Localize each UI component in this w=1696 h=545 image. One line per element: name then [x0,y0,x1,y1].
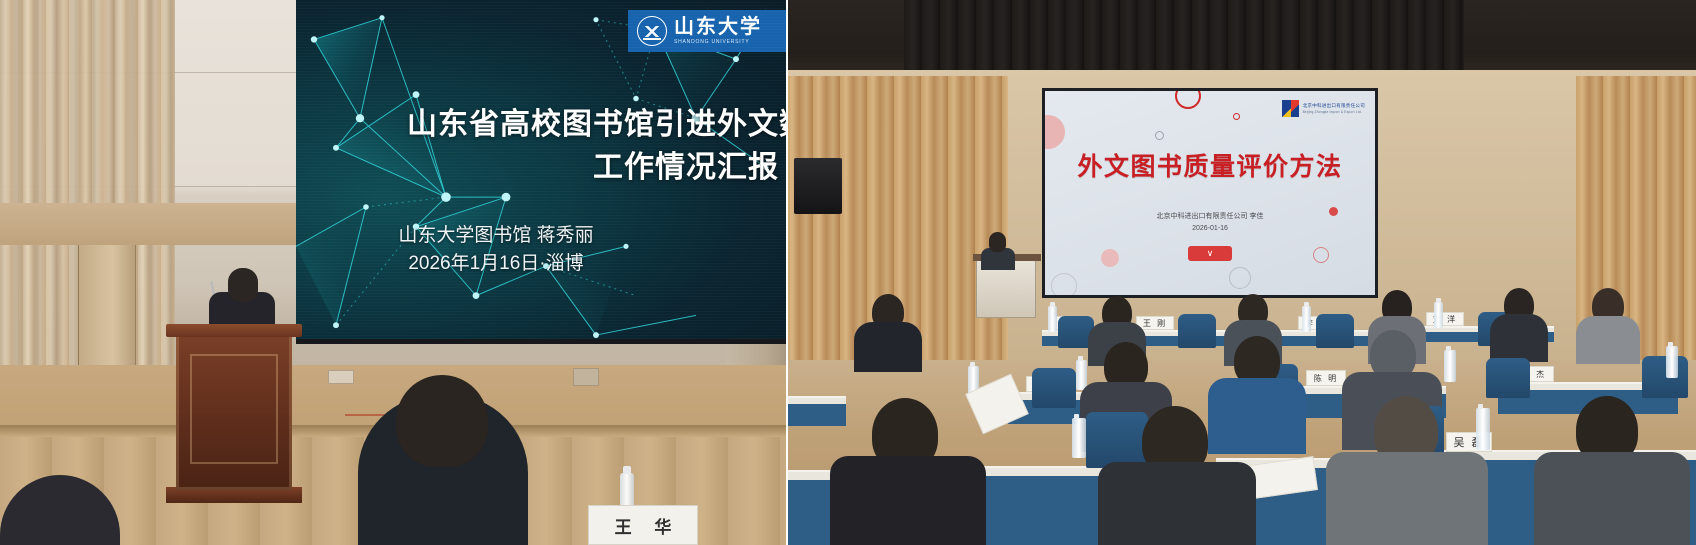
chair [1032,368,1076,408]
audience-body-foreground [1534,452,1690,545]
slide-title-line2: 工作情况汇报 [336,147,786,190]
decoration-ring [1051,273,1077,298]
decoration-circle [1101,249,1119,267]
shandong-university-seal-icon [637,16,667,46]
water-bottle [1476,408,1490,450]
wall-speaker-icon [794,158,842,214]
presentation-date: 2026年1月16日·淄博 [296,250,696,278]
presenter-head [228,268,258,302]
panel-divider [786,0,788,545]
company-logo-mark-icon [1282,100,1299,117]
presentation-date: 2026-01-16 [1045,223,1375,235]
audience-body-foreground [1326,452,1488,545]
audience-body-foreground [1098,462,1256,545]
slide-subtitle-left: 山东大学图书馆 蒋秀丽 2026年1月16日·淄博 [296,222,696,277]
podium-left [176,332,292,490]
chair [1086,412,1148,468]
nameplate: 陈 明 [1306,370,1346,386]
company-name-en: Beijing Zhongke Import & Export Ltd. [1303,110,1365,114]
audience-body [1490,314,1548,362]
presenter-name: 山东大学图书馆 蒋秀丽 [296,222,696,250]
chair [1642,356,1688,398]
water-bottle [1302,306,1311,332]
audience-body [1208,378,1306,454]
wall-outlet-plate [573,368,599,386]
right-photo-panel: 北京中科进出口有限责任公司 Beijing Zhongke Import & E… [786,0,1696,545]
nameplate: 王 华 [588,505,698,545]
audience-body-foreground [830,456,986,545]
led-presentation-screen-left: 山东大学 SHANDONG UNIVERSITY 山东省高校图书馆引进外文数字资… [296,0,786,344]
university-name-cn: 山东大学 [674,17,762,37]
water-bottle [1434,302,1443,328]
university-name-en: SHANDONG UNIVERSITY [674,40,762,45]
decoration-small-ring [1155,131,1164,140]
water-bottle [1444,350,1456,382]
slide-scroll-button[interactable]: ∨ [1188,246,1232,261]
chair [1178,314,1216,348]
conference-table [786,396,846,404]
table-skirt [786,404,846,426]
water-bottle [1072,418,1086,458]
audience-body [1576,316,1640,364]
presenter-affiliation: 北京中科进出口有限责任公司 李佳 [1045,211,1375,223]
company-logo: 北京中科进出口有限责任公司 Beijing Zhongke Import & E… [1282,100,1365,117]
nameplate: 刘 洋 [1426,312,1464,326]
audience-body [854,322,922,372]
chair [1486,358,1530,398]
company-name-cn: 北京中科进出口有限责任公司 [1303,103,1365,109]
slide-subtitle-right: 北京中科进出口有限责任公司 李佳 2026-01-16 [1045,211,1375,235]
water-bottle [1666,346,1678,378]
two-panel-photo-composite: 山东大学 SHANDONG UNIVERSITY 山东省高校图书馆引进外文数字资… [0,0,1696,545]
decoration-dot-ring [1233,113,1240,120]
shandong-university-logo-banner: 山东大学 SHANDONG UNIVERSITY [628,10,786,52]
left-photo-panel: 山东大学 SHANDONG UNIVERSITY 山东省高校图书馆引进外文数字资… [0,0,786,545]
decoration-ring [1229,267,1251,289]
slide-canvas [1045,91,1375,295]
projection-screen-right: 北京中科进出口有限责任公司 Beijing Zhongke Import & E… [1042,88,1378,298]
decoration-ring [1313,247,1329,263]
chair [1316,314,1354,348]
slide-title-left: 山东省高校图书馆引进外文数字资源集团 工作情况汇报 [336,104,786,189]
slide-title-right: 外文图书质量评价方法 [1045,147,1375,183]
water-bottle [1048,306,1057,332]
audience-member-head [396,375,488,467]
presenter-head-right [989,232,1006,252]
slide-title-line1: 山东省高校图书馆引进外文数字资源集团 [407,108,786,141]
